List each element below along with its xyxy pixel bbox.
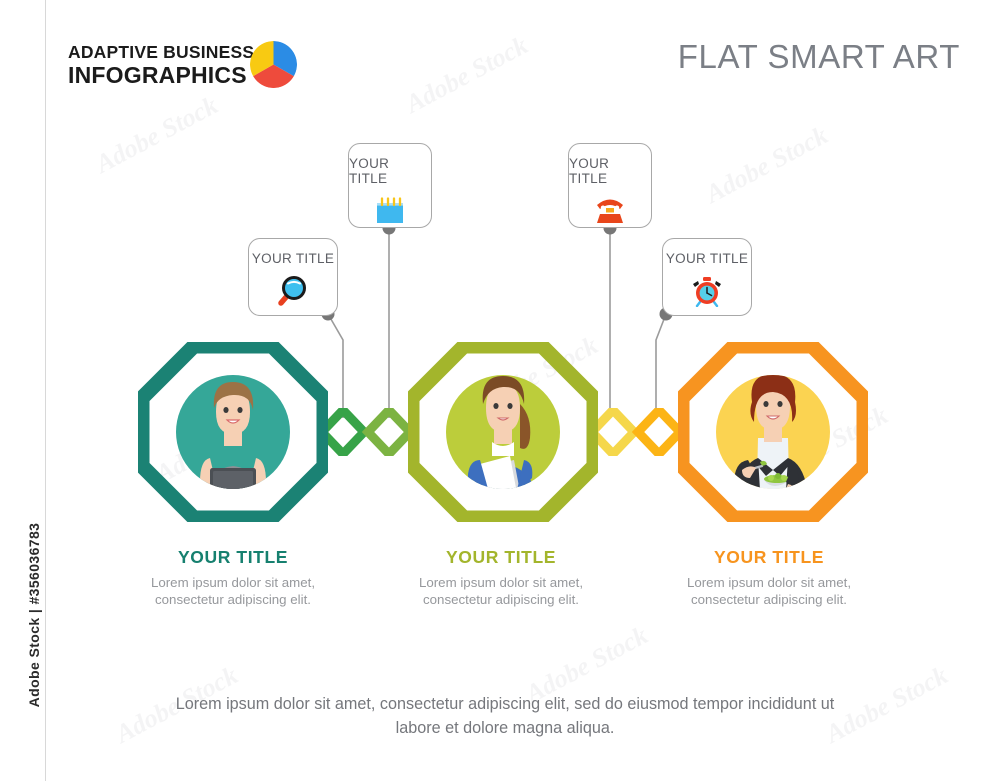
step-3-body: Lorem ipsum dolor sit amet, consectetur … — [669, 575, 869, 608]
callout-title: YOUR TITLE — [349, 156, 431, 186]
octagon-frame — [138, 342, 328, 522]
callout-title: YOUR TITLE — [252, 251, 334, 266]
step-1-avatar-octagon[interactable] — [138, 342, 328, 522]
callout-phone[interactable]: YOUR TITLE — [568, 143, 652, 228]
step-3-title: YOUR TITLE — [669, 547, 869, 568]
step-3-text-block: YOUR TITLE Lorem ipsum dolor sit amet, c… — [669, 547, 869, 608]
callout-alarm[interactable]: YOUR TITLE — [662, 238, 752, 316]
step-1-title: YOUR TITLE — [133, 547, 333, 568]
step-2-avatar-octagon[interactable] — [408, 342, 598, 522]
step-2-body: Lorem ipsum dolor sit amet, consectetur … — [401, 575, 601, 608]
alarm-clock-icon — [689, 275, 725, 312]
callout-calendar[interactable]: YOUR TITLE — [348, 143, 432, 228]
footer-paragraph: Lorem ipsum dolor sit amet, consectetur … — [160, 692, 850, 740]
step-2-text-block: YOUR TITLE Lorem ipsum dolor sit amet, c… — [401, 547, 601, 608]
calendar-icon — [373, 195, 407, 232]
callout-search[interactable]: YOUR TITLE — [248, 238, 338, 316]
stock-watermark-text: Adobe Stock | #356036783 — [26, 495, 42, 735]
step-1-body: Lorem ipsum dolor sit amet, consectetur … — [133, 575, 333, 608]
stock-watermark-sidebar: Adobe Stock | #356036783 — [0, 0, 46, 781]
octagon-frame — [678, 342, 868, 522]
magnifier-icon — [276, 275, 310, 312]
step-3-avatar-octagon[interactable] — [678, 342, 868, 522]
step-1-text-block: YOUR TITLE Lorem ipsum dolor sit amet, c… — [133, 547, 333, 608]
telephone-icon — [592, 195, 628, 232]
step-2-title: YOUR TITLE — [401, 547, 601, 568]
diamond-connector-2 — [590, 408, 682, 456]
callout-title: YOUR TITLE — [666, 251, 748, 266]
callout-title: YOUR TITLE — [569, 156, 651, 186]
diamond-connector-1 — [320, 408, 412, 456]
octagon-frame — [408, 342, 598, 522]
